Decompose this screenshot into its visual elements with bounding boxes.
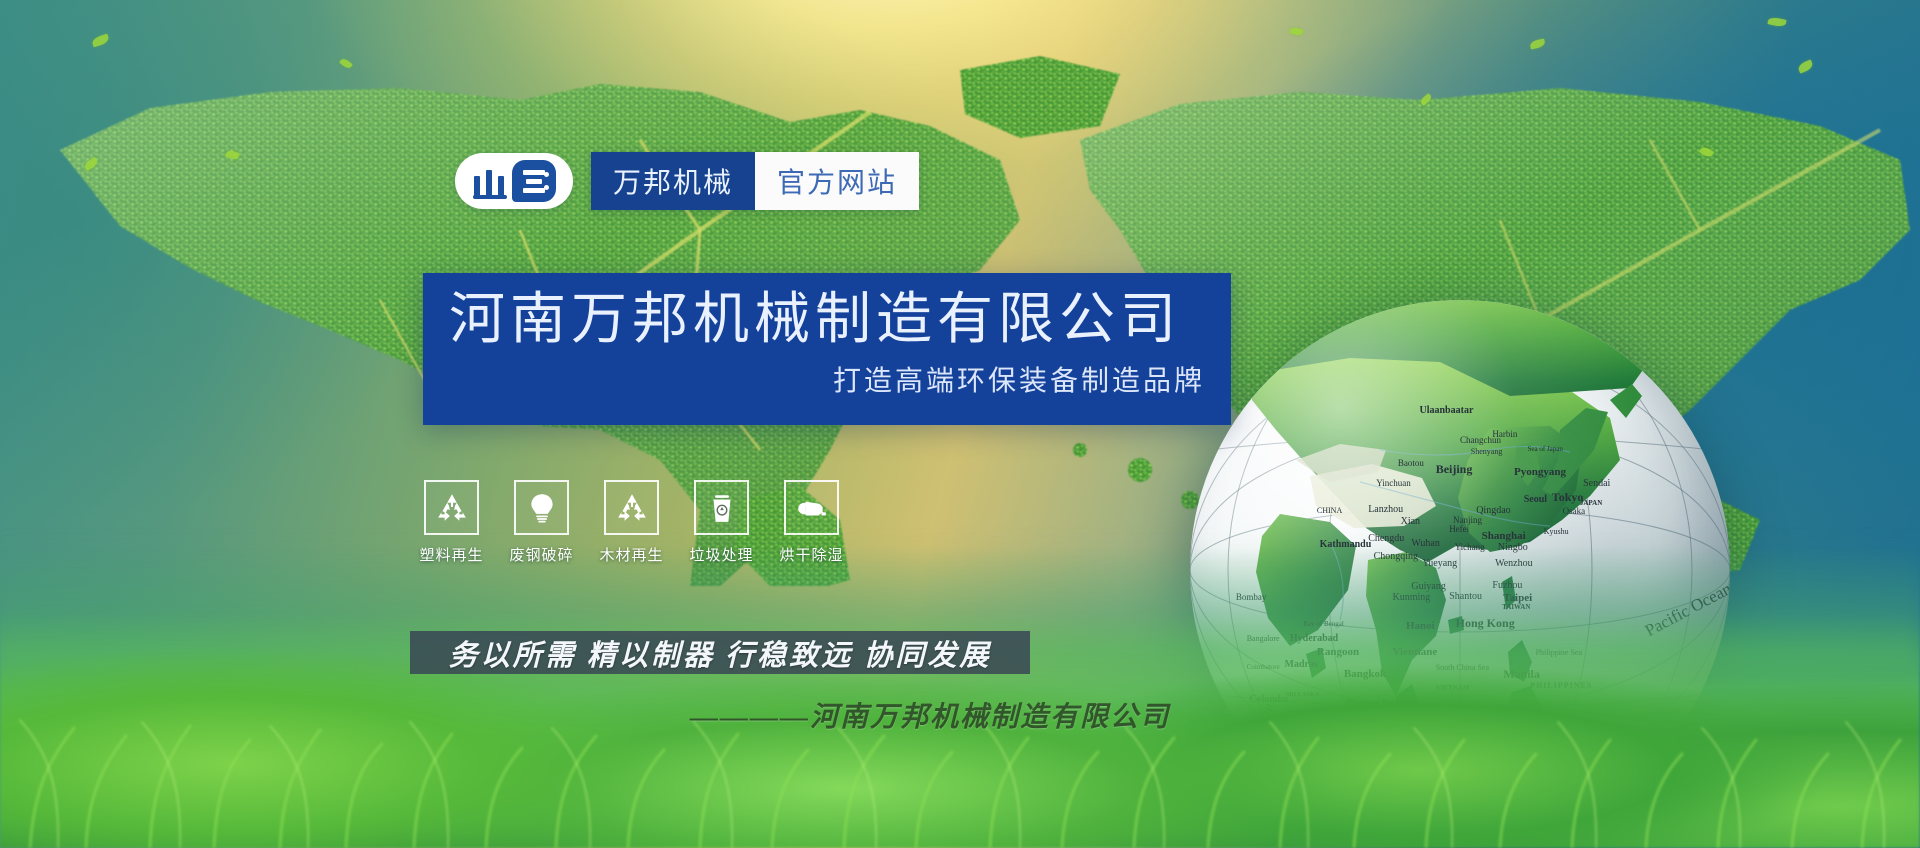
site-header: 万邦机械 官方网站 xyxy=(455,152,919,210)
nav-tabs: 万邦机械 官方网站 xyxy=(591,152,919,210)
tab-wanbang-jixie[interactable]: 万邦机械 xyxy=(591,152,755,210)
hero-title-banner: 河南万邦机械制造有限公司 打造高端环保装备制造品牌 xyxy=(423,273,1231,425)
feature-item-plastic-recycle[interactable]: 塑料再生 xyxy=(424,480,479,565)
feature-item-steel-crush[interactable]: 废钢破碎 xyxy=(514,480,569,565)
recycle-icon xyxy=(435,491,469,525)
feature-icon-box xyxy=(424,480,479,535)
dryer-icon xyxy=(795,491,829,525)
feature-item-drying-dehumidify[interactable]: 烘干除湿 xyxy=(784,480,839,565)
lightbulb-icon xyxy=(525,491,559,525)
feature-label: 塑料再生 xyxy=(420,544,484,565)
slogan-text: 务以所需 精以制器 行稳致远 协同发展 xyxy=(449,632,992,674)
trash-bin-icon xyxy=(705,491,739,525)
feature-label: 废钢破碎 xyxy=(510,544,574,565)
logo-w-icon xyxy=(473,166,507,196)
page-subtitle: 打造高端环保装备制造品牌 xyxy=(449,359,1205,399)
feature-item-waste-treatment[interactable]: 垃圾处理 xyxy=(694,480,749,565)
feature-icon-box xyxy=(604,480,659,535)
slogan-attribution: ————河南万邦机械制造有限公司 xyxy=(690,695,1170,735)
feature-icon-box xyxy=(514,480,569,535)
slogan-banner: 务以所需 精以制器 行稳致远 协同发展 xyxy=(410,631,1030,674)
feature-icon-box xyxy=(784,480,839,535)
hero-banner: UlaanbaatarBeijingBaotouYinchuanLanzhouC… xyxy=(0,0,1920,848)
feature-label: 木材再生 xyxy=(600,544,664,565)
feature-icon-box xyxy=(694,480,749,535)
logo-speech-bubble-icon xyxy=(512,160,556,202)
feature-list: 塑料再生 废钢破碎 xyxy=(424,480,839,565)
feature-label: 垃圾处理 xyxy=(690,544,754,565)
feature-label: 烘干除湿 xyxy=(780,544,844,565)
brand-logo[interactable] xyxy=(455,153,573,209)
page-title: 河南万邦机械制造有限公司 xyxy=(449,289,1205,352)
recycle-icon xyxy=(615,491,649,525)
tab-official-website[interactable]: 官方网站 xyxy=(755,152,919,210)
feature-item-wood-recycle[interactable]: 木材再生 xyxy=(604,480,659,565)
